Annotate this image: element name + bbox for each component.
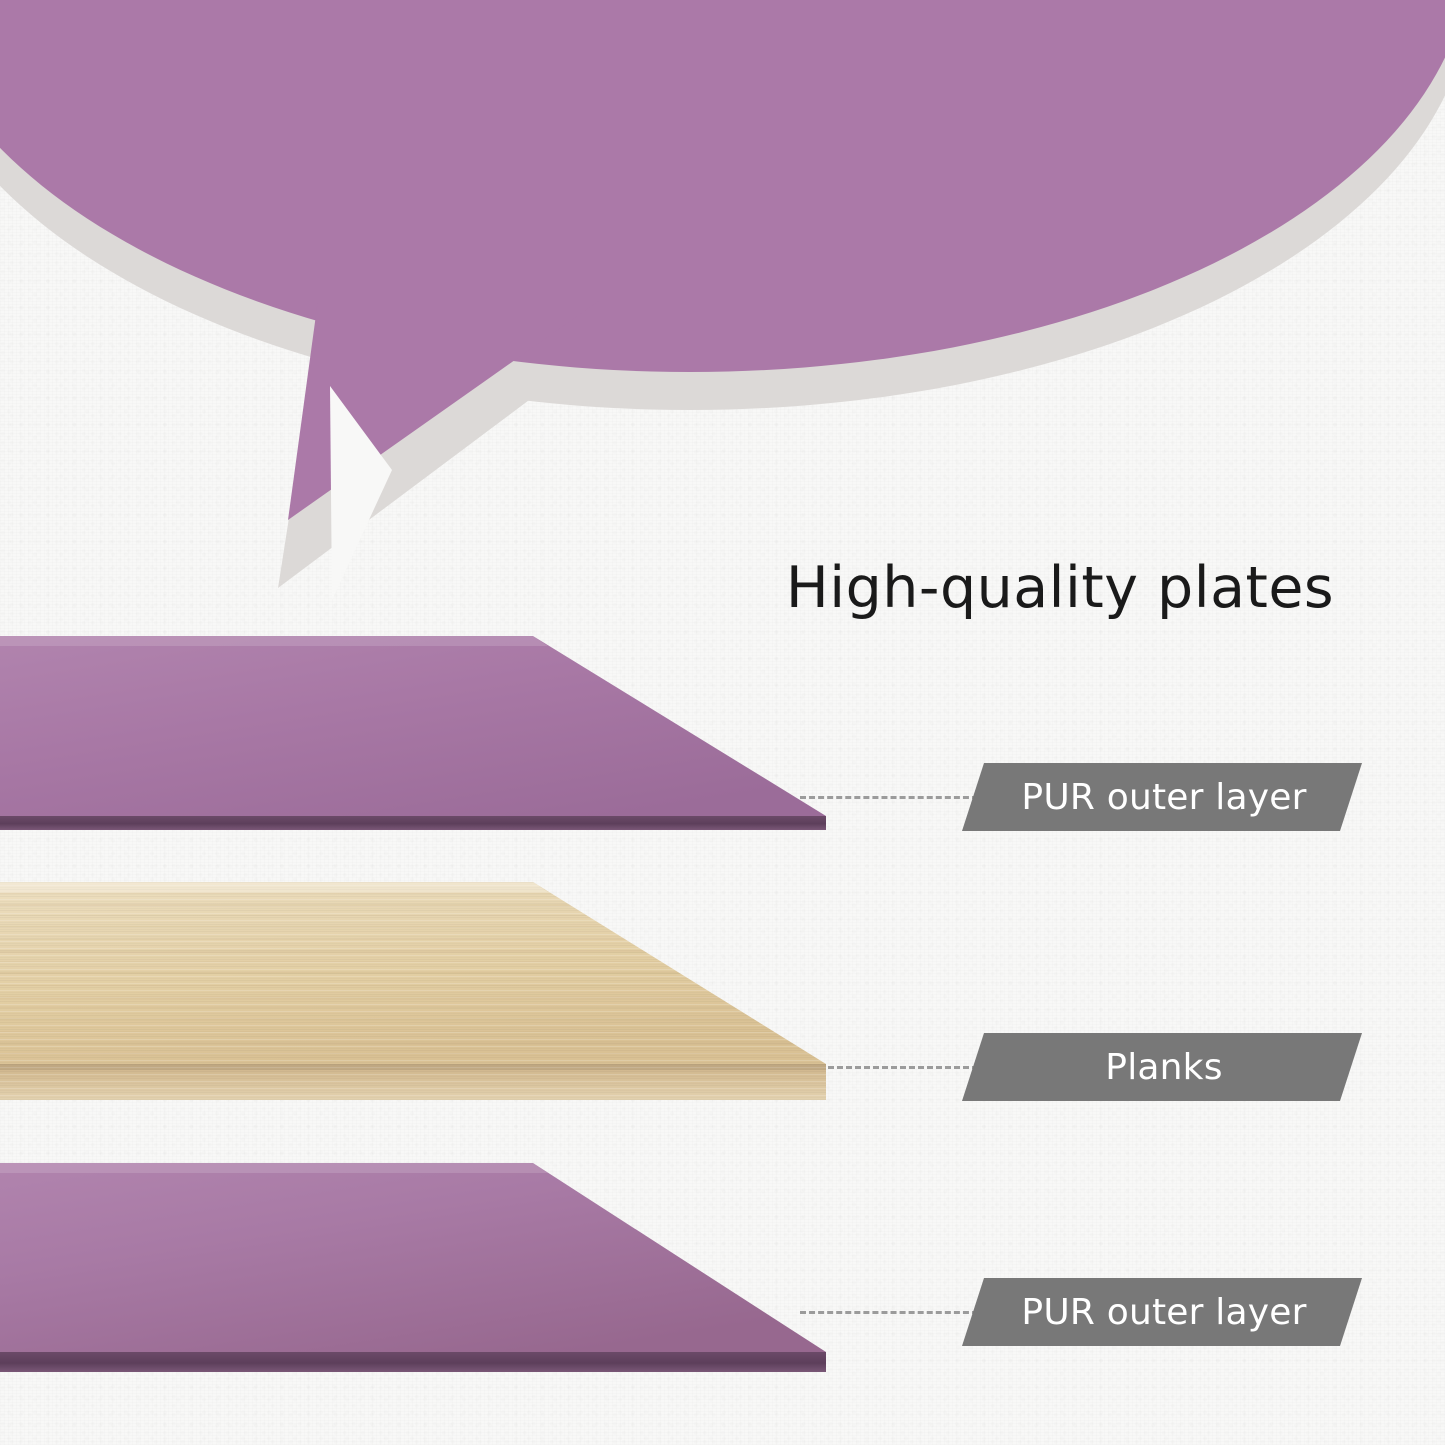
callout-pur-top-label: PUR outer layer: [962, 777, 1362, 818]
poster-canvas: High-quality plates PUR outer layer Plan…: [0, 0, 1445, 1445]
plate-planks: [0, 882, 826, 1100]
callout-pur-top: PUR outer layer: [962, 763, 1362, 831]
plate-pur-top: [0, 636, 826, 830]
callout-pur-bottom-label: PUR outer layer: [962, 1292, 1362, 1333]
callout-planks-label: Planks: [962, 1047, 1362, 1088]
plate-stack-diagram: [0, 0, 1445, 1445]
leader-line-pur-top: [800, 796, 978, 799]
callout-planks: Planks: [962, 1033, 1362, 1101]
plate-pur-bottom: [0, 1163, 826, 1372]
callout-pur-bottom: PUR outer layer: [962, 1278, 1362, 1346]
leader-line-pur-bottom: [800, 1311, 978, 1314]
page-title: High-quality plates: [740, 555, 1380, 621]
leader-line-planks: [828, 1066, 978, 1069]
